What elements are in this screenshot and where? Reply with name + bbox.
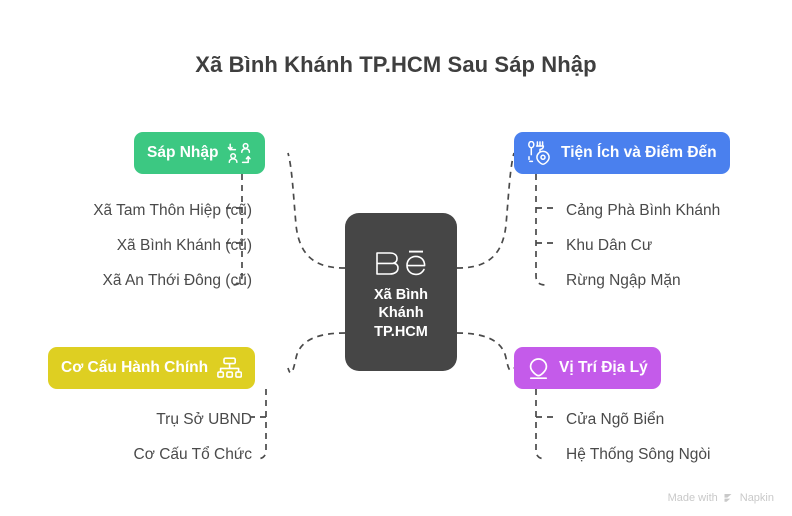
list-item[interactable]: Xã Bình Khánh (cũ) [117,238,252,254]
branch-label-tien-ich: Tiện Ích và Điểm Đến [561,145,717,161]
branch-header-vi-tri[interactable]: Vị Trí Địa Lý [514,347,661,389]
branch-header-sap-nhap[interactable]: Sáp Nhập [134,132,265,174]
list-item[interactable]: Xã Tam Thôn Hiệp (cũ) [93,203,252,219]
connector-center-to-cocau [288,333,345,373]
list-item[interactable]: Cảng Phà Bình Khánh [566,203,720,219]
center-node-label: Xã Bình Khánh TP.HCM [374,286,428,342]
connector-center-to-sapnhap [288,153,345,268]
restaurant-pin-icon [527,141,552,165]
list-item[interactable]: Rừng Ngập Mặn [566,273,681,289]
list-item[interactable]: Trụ Sở UBND [156,412,252,428]
branch-header-tien-ich[interactable]: Tiện Ích và Điểm Đến [514,132,730,174]
branch-header-co-cau[interactable]: Cơ Cấu Hành Chính [48,347,255,389]
watermark: Made with Napkin [668,492,774,504]
connector-tienich-spine [536,174,546,285]
center-node[interactable]: Xã Bình Khánh TP.HCM [345,213,457,371]
behance-be-logo-icon [374,247,428,279]
napkin-logo-icon [723,492,735,504]
connector-sapnhap-spine [232,174,242,285]
org-chart-icon [217,357,242,380]
list-item[interactable]: Khu Dân Cư [566,238,652,254]
page-title: Xã Bình Khánh TP.HCM Sau Sáp Nhập [0,52,792,78]
watermark-text-after: Napkin [740,492,774,504]
connector-vitri-spine [536,389,546,459]
connector-center-to-tienich [457,153,514,268]
branch-label-co-cau: Cơ Cấu Hành Chính [61,360,208,376]
list-item[interactable]: Xã An Thới Đông (cũ) [103,273,252,289]
list-item[interactable]: Hệ Thống Sông Ngòi [566,447,710,463]
connector-cocau-spine [256,389,266,459]
watermark-text-before: Made with [668,492,718,504]
user-swap-icon [227,142,252,165]
list-item[interactable]: Cơ Cấu Tổ Chức [134,447,252,463]
list-item[interactable]: Cửa Ngõ Biển [566,412,664,428]
branch-label-sap-nhap: Sáp Nhập [147,145,218,161]
map-pin-icon [527,357,550,380]
connector-center-to-vitri [457,333,514,370]
branch-label-vi-tri: Vị Trí Địa Lý [559,360,648,376]
